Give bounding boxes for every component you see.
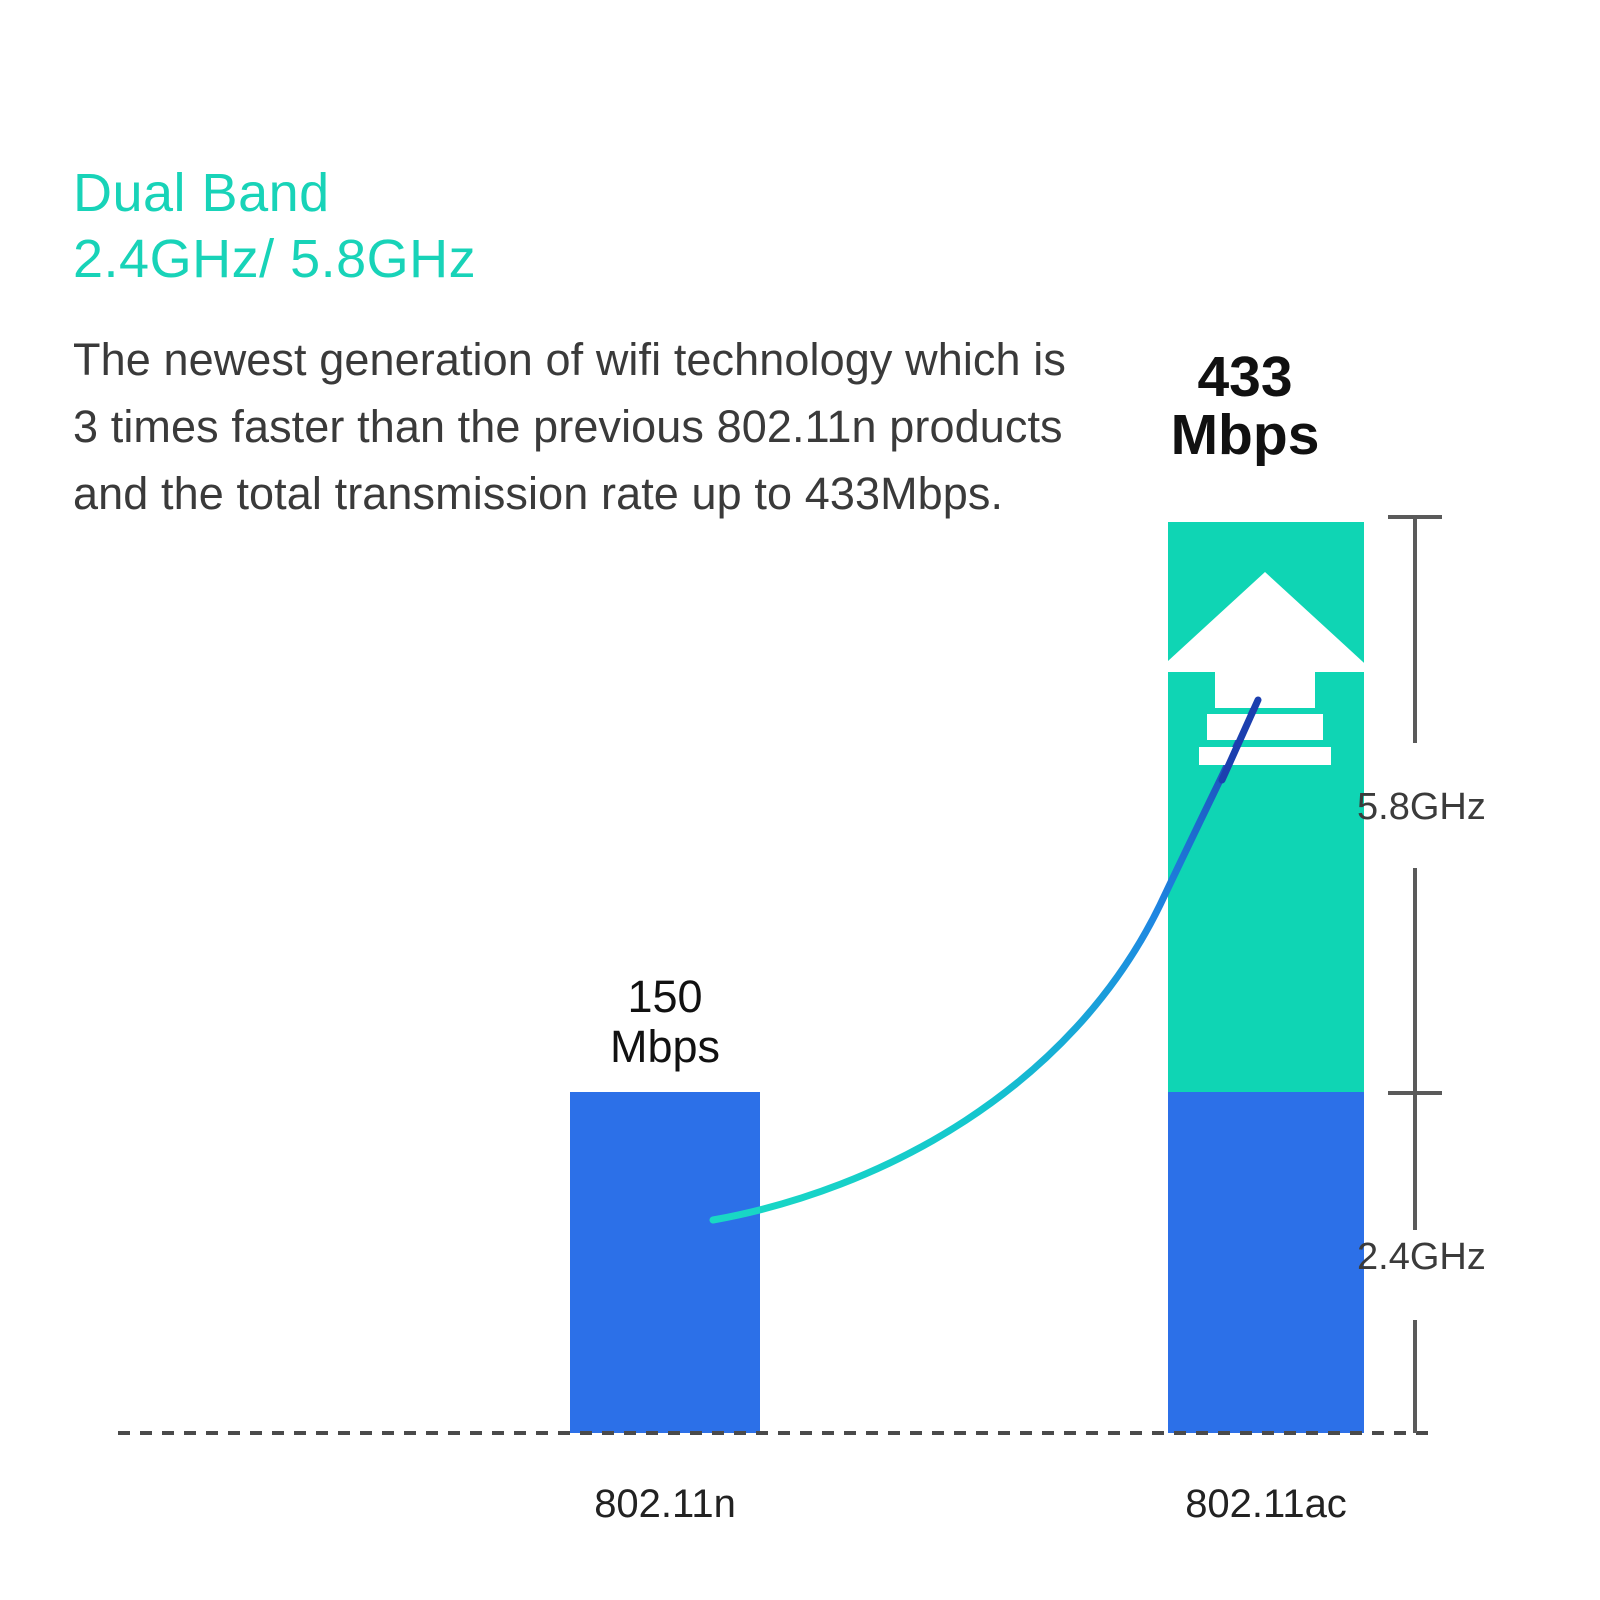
value-unit-150: Mbps bbox=[545, 1022, 785, 1072]
bar-802-11n bbox=[570, 1092, 760, 1433]
value-label-802-11n: 150 Mbps bbox=[545, 972, 785, 1072]
band-label-5-8ghz: 5.8GHz bbox=[1357, 786, 1486, 829]
band-label-2-4ghz: 2.4GHz bbox=[1357, 1236, 1486, 1279]
category-label-802-11ac: 802.11ac bbox=[1146, 1482, 1386, 1527]
value-number-433: 433 bbox=[1125, 348, 1365, 406]
value-unit-433: Mbps bbox=[1125, 406, 1365, 464]
infographic-canvas: Dual Band 2.4GHz/ 5.8GHz The newest gene… bbox=[0, 0, 1600, 1600]
value-number-150: 150 bbox=[545, 972, 785, 1022]
bar-802-11ac-2-4ghz bbox=[1168, 1092, 1364, 1433]
value-label-802-11ac: 433 Mbps bbox=[1125, 348, 1365, 464]
category-label-802-11n: 802.11n bbox=[545, 1482, 785, 1527]
